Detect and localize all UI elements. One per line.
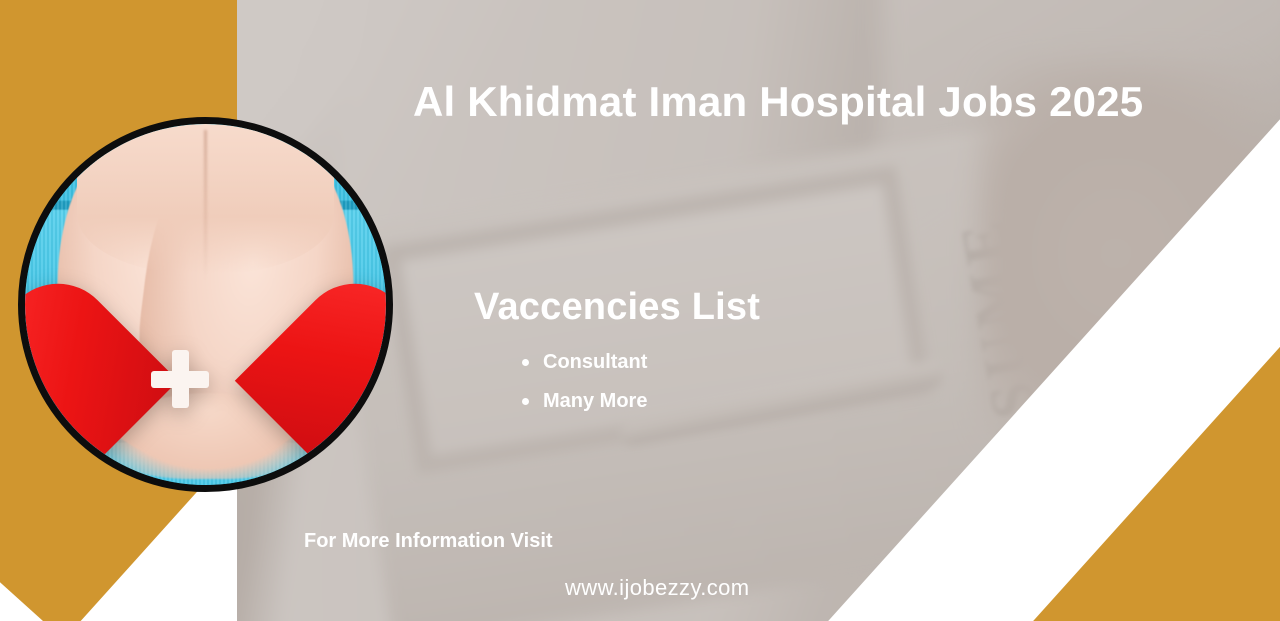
vacancies-heading: Vaccencies List (474, 286, 760, 329)
more-information-label: For More Information Visit (304, 530, 553, 553)
page-title: Al Khidmat Iman Hospital Jobs 2025 (413, 74, 1213, 129)
list-item: Many More (500, 391, 647, 411)
vacancies-list: Consultant Many More (500, 352, 647, 430)
poster-content: Al Khidmat Iman Hospital Jobs 2025 Vacce… (0, 0, 1280, 621)
job-poster: RESUME Al Khidmat Iman Hospital Jobs 202… (0, 0, 1280, 621)
website-url[interactable]: www.ijobezzy.com (565, 575, 749, 601)
list-item: Consultant (500, 352, 647, 372)
